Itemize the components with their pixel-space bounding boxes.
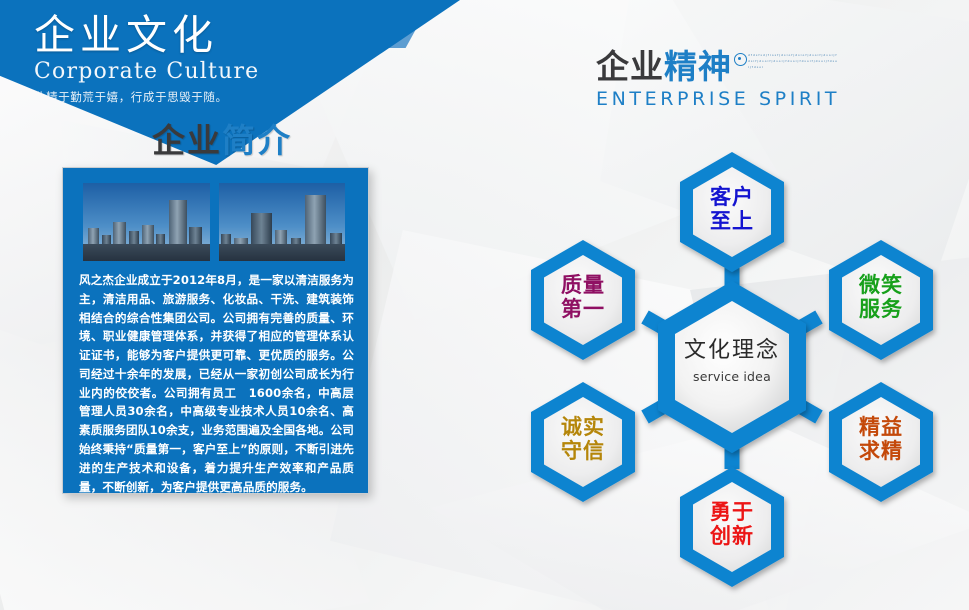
banner-subtitle: 业精于勤荒于嬉，行成于思毁于随。 (34, 89, 334, 105)
spirit-heading-blue: 精神 (664, 47, 732, 86)
hexagon-center[interactable] (658, 281, 806, 453)
skyscraper-photo (219, 183, 346, 261)
hexagon-quality-first[interactable] (531, 240, 635, 360)
hexagon-customer-first[interactable] (680, 152, 784, 272)
photo-strip (83, 183, 345, 261)
culture-hexagon-diagram: 客户 至上 质量 第一 微笑 服务 诚实 守信 精益 求精 勇于 创新 文化理念… (495, 105, 969, 610)
intro-heading-dark: 企业 (152, 121, 222, 160)
company-intro-card: 风之杰企业成立于2012年8月，是一家以清洁服务为主，清洁用品、旅游服务、化妆品… (62, 167, 369, 494)
hexagon-smile-service[interactable] (829, 240, 933, 360)
hexagon-honest-trust[interactable] (531, 382, 635, 502)
enterprise-spirit-heading: 企业精神 dfdsfsdjfiosfjdsiofjdsiofjdsoifjdso… (596, 50, 926, 110)
registered-mark-icon (734, 53, 747, 66)
corporate-culture-poster: 企业文化 Corporate Culture 业精于勤荒于嬉，行成于思毁于随。 … (0, 0, 969, 610)
banner-title-cn: 企业文化 (34, 14, 334, 57)
hexagon-excellence[interactable] (829, 382, 933, 502)
hexagon-network-svg (495, 105, 969, 610)
spirit-heading-dark: 企业 (596, 47, 664, 86)
banner-title-en: Corporate Culture (34, 59, 334, 84)
decorative-micro-text: dfdsfsdjfiosfjdsiofjdsiofjdsoifjdsoijfds… (748, 53, 838, 79)
intro-heading-blue: 简介 (222, 121, 292, 160)
hexagon-brave-innovate[interactable] (680, 467, 784, 587)
company-intro-heading: 企业简介 (152, 114, 292, 162)
city-skyline-photo (83, 183, 210, 261)
company-intro-text: 风之杰企业成立于2012年8月，是一家以清洁服务为主，清洁用品、旅游服务、化妆品… (79, 271, 354, 496)
